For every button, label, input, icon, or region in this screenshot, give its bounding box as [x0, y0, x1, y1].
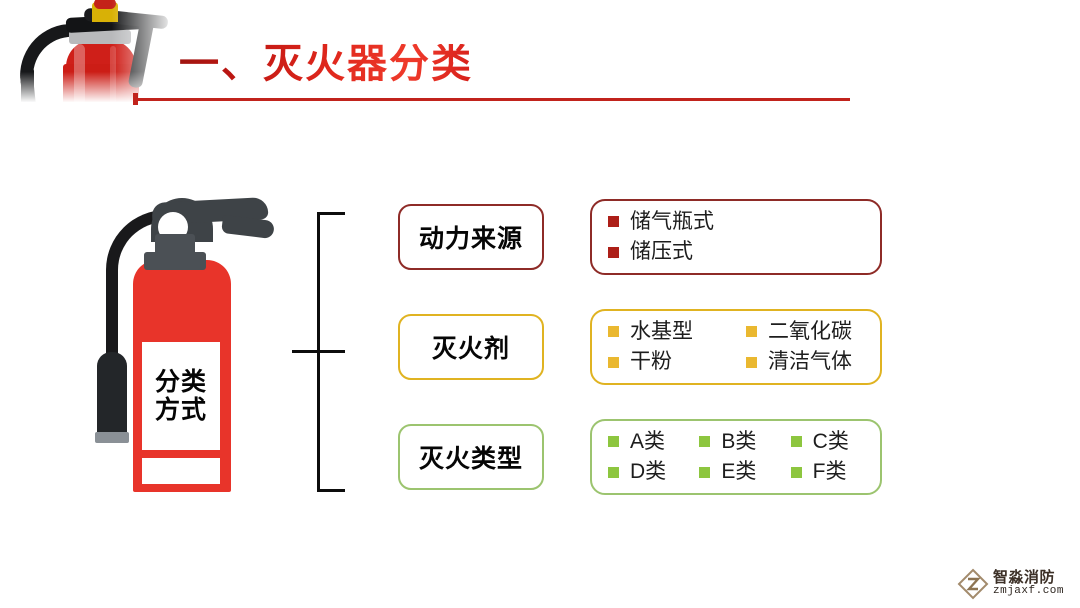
- item-label: F类: [813, 459, 847, 485]
- extinguisher-handle-hook: [221, 215, 275, 239]
- list-item: 干粉: [608, 349, 742, 375]
- items-box-fire-type[interactable]: A类 B类 C类 D类 E类: [590, 419, 882, 495]
- item-label: E类: [721, 459, 756, 485]
- square-bullet-icon: [699, 467, 710, 478]
- square-bullet-icon: [746, 326, 757, 337]
- items-box-agent[interactable]: 水基型 二氧化碳 干粉 清洁气体: [590, 309, 882, 385]
- classification-row: 灭火类型 A类 B类 C类 D类: [398, 419, 888, 495]
- slide-header: 一、灭火器分类: [0, 0, 1080, 120]
- watermark-text: 智淼消防 zmjaxf.com: [993, 570, 1064, 597]
- extinguisher-label-band: [142, 458, 220, 484]
- classification-row: 动力来源 储气瓶式 储压式: [398, 199, 888, 275]
- item-label: D类: [630, 459, 666, 485]
- item-label: 储压式: [630, 239, 693, 265]
- square-bullet-icon: [608, 467, 619, 478]
- fire-extinguisher-photo: [6, 0, 188, 102]
- category-box-power-source[interactable]: 动力来源: [398, 204, 544, 270]
- list-item: 储压式: [608, 239, 880, 265]
- square-bullet-icon: [608, 326, 619, 337]
- category-box-fire-type[interactable]: 灭火类型: [398, 424, 544, 490]
- center-label: 分类 方式: [142, 342, 220, 450]
- item-label: 储气瓶式: [630, 209, 714, 235]
- list-item: 储气瓶式: [608, 209, 880, 235]
- list-item: C类: [791, 429, 880, 455]
- square-bullet-icon: [791, 467, 802, 478]
- grouping-bracket: [292, 212, 348, 492]
- bracket-top-arm: [317, 212, 345, 215]
- page-title: 一、灭火器分类: [179, 44, 473, 84]
- extinguisher-nozzle-icon: [97, 352, 127, 438]
- list-item: E类: [699, 459, 788, 485]
- title-underline: [133, 98, 850, 101]
- item-label: 清洁气体: [768, 349, 852, 375]
- item-label: 水基型: [630, 319, 693, 345]
- square-bullet-icon: [699, 436, 710, 447]
- item-label: 二氧化碳: [768, 319, 852, 345]
- category-label: 灭火类型: [419, 439, 523, 475]
- list-item: B类: [699, 429, 788, 455]
- square-bullet-icon: [608, 216, 619, 227]
- slide-canvas: 一、灭火器分类 分类 方式 动力来源: [0, 0, 1080, 608]
- list-item: D类: [608, 459, 697, 485]
- extinguisher-nozzle-tip: [95, 432, 129, 443]
- item-label: B类: [721, 429, 756, 455]
- square-bullet-icon: [608, 357, 619, 368]
- extinguisher-illustration: 分类 方式: [96, 196, 282, 496]
- center-label-line1: 分类: [155, 368, 207, 396]
- bracket-bottom-arm: [317, 489, 345, 492]
- list-item: F类: [791, 459, 880, 485]
- bracket-center-connector: [292, 350, 345, 353]
- items-box-power-source[interactable]: 储气瓶式 储压式: [590, 199, 882, 275]
- category-label: 灭火剂: [432, 329, 510, 365]
- category-label: 动力来源: [419, 219, 523, 255]
- list-item: A类: [608, 429, 697, 455]
- watermark-brand: 智淼消防: [993, 570, 1064, 586]
- list-item: 二氧化碳: [746, 319, 880, 345]
- list-item: 清洁气体: [746, 349, 880, 375]
- item-label: C类: [813, 429, 849, 455]
- list-item: 水基型: [608, 319, 742, 345]
- photo-fade-overlay: [6, 0, 188, 102]
- classification-row: 灭火剂 水基型 二氧化碳 干粉 清洁气体: [398, 309, 888, 385]
- square-bullet-icon: [608, 436, 619, 447]
- brand-logo-icon: [957, 568, 989, 600]
- watermark-url: zmjaxf.com: [993, 586, 1064, 598]
- item-label: 干粉: [630, 349, 672, 375]
- square-bullet-icon: [746, 357, 757, 368]
- square-bullet-icon: [791, 436, 802, 447]
- extinguisher-collar: [144, 252, 206, 270]
- category-box-agent[interactable]: 灭火剂: [398, 314, 544, 380]
- extinguisher-hose-stem: [106, 288, 118, 358]
- center-label-line2: 方式: [155, 396, 207, 424]
- item-label: A类: [630, 429, 665, 455]
- square-bullet-icon: [608, 247, 619, 258]
- watermark: 智淼消防 zmjaxf.com: [957, 563, 1077, 605]
